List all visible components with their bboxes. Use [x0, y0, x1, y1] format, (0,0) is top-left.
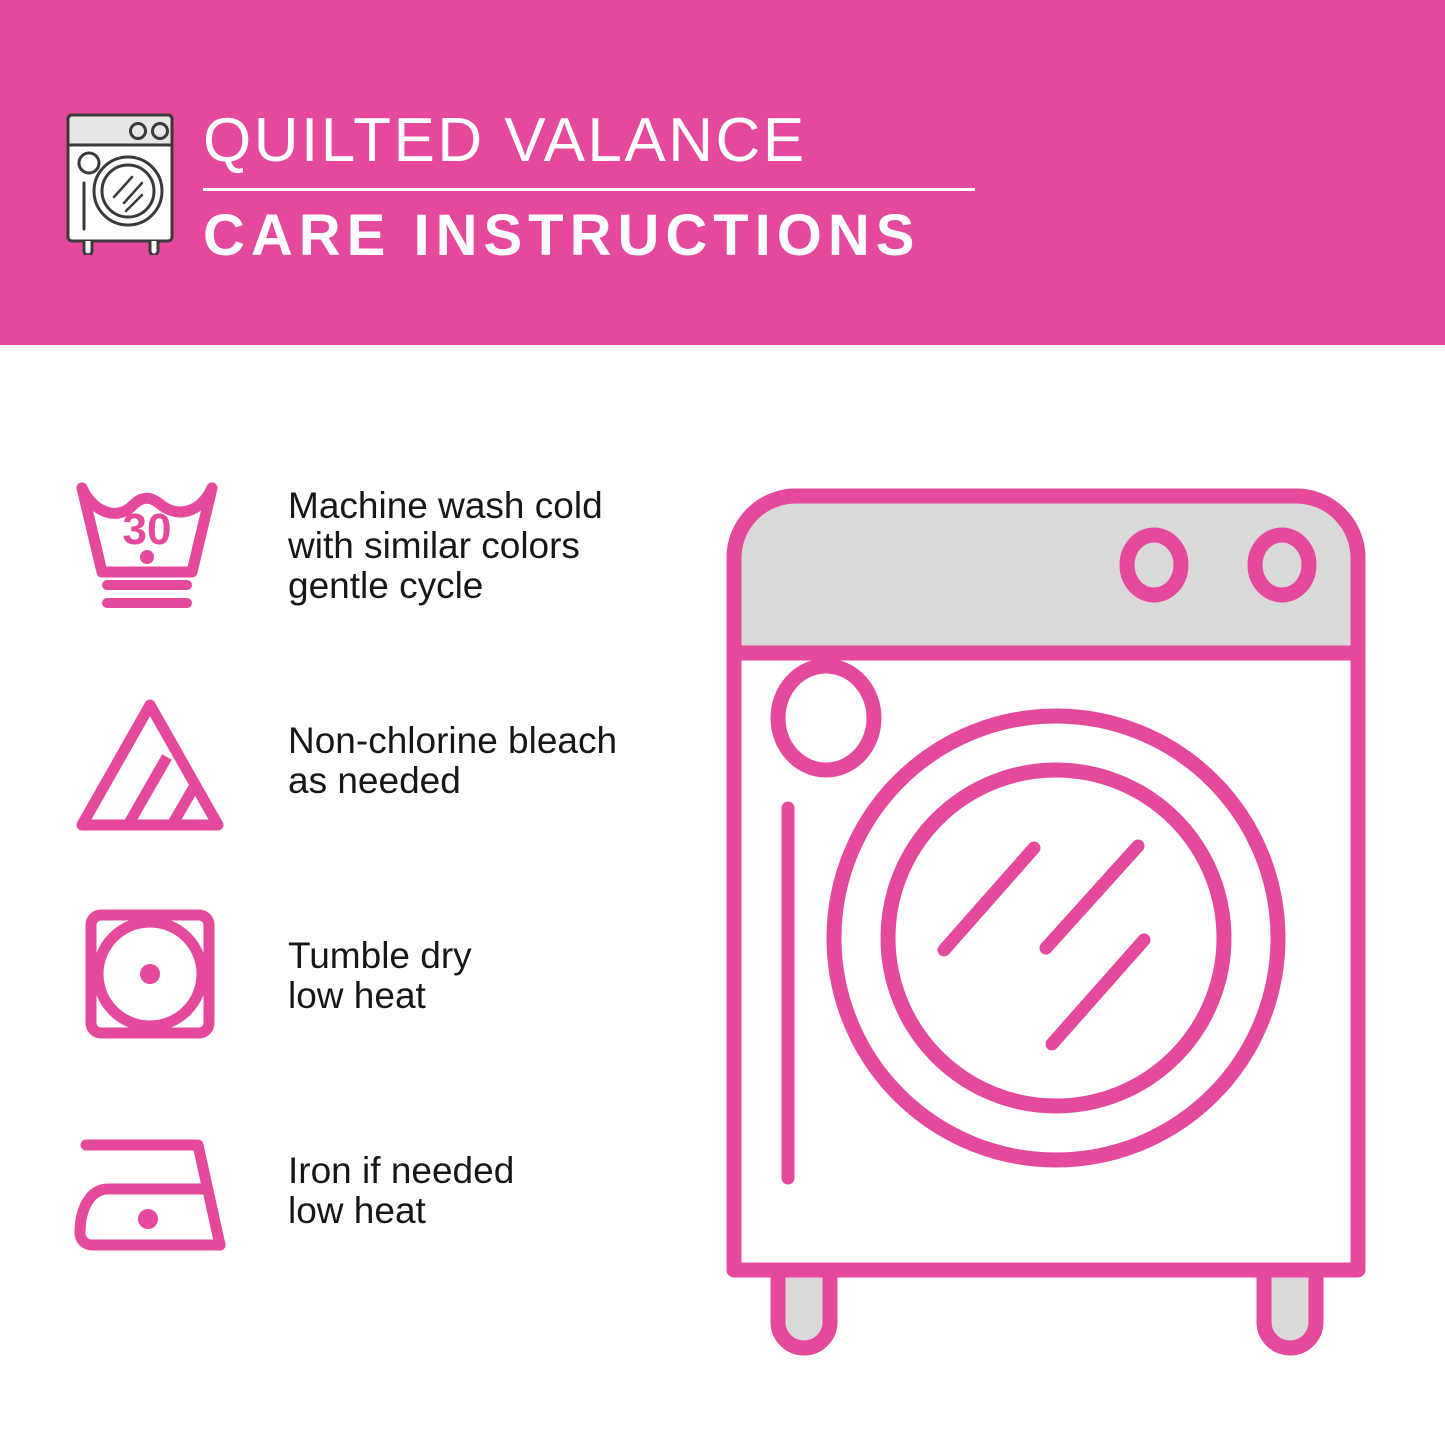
care-line: Iron if needed: [288, 1151, 514, 1191]
care-instruction-list: 30 Machine wash cold with similar colors…: [0, 470, 640, 1330]
leg-right: [1264, 1270, 1316, 1348]
tumble-dry-icon: [84, 908, 216, 1040]
care-line: gentle cycle: [288, 566, 603, 606]
control-panel: [734, 496, 1358, 653]
header-text-block: QUILTED VALANCE CARE INSTRUCTIONS: [203, 104, 993, 269]
washing-machine-icon: [62, 103, 186, 255]
front-load-washing-machine-illustration: [716, 478, 1376, 1368]
machine-wash-tub-icon: 30: [72, 476, 234, 616]
wash-bar-1: [102, 580, 192, 590]
page-title: QUILTED VALANCE: [203, 104, 993, 178]
wash-temperature-label: 30: [123, 505, 172, 554]
header-band: QUILTED VALANCE CARE INSTRUCTIONS: [0, 0, 1445, 345]
care-row-tumble-dry: Tumble dry low heat: [0, 900, 640, 1115]
tumble-dry-dot-icon: [140, 964, 160, 984]
care-text-iron: Iron if needed low heat: [288, 1151, 514, 1231]
leg-left: [778, 1270, 830, 1348]
page-subtitle: CARE INSTRUCTIONS: [203, 203, 993, 269]
wash-bar-2: [102, 598, 192, 608]
care-line: Tumble dry: [288, 936, 472, 976]
care-instructions-infographic: QUILTED VALANCE CARE INSTRUCTIONS 30: [0, 0, 1445, 1445]
care-text-machine-wash: Machine wash cold with similar colors ge…: [288, 486, 603, 606]
care-row-bleach: Non-chlorine bleach as needed: [0, 685, 640, 900]
iron-dot-icon: [138, 1209, 158, 1229]
care-row-iron: Iron if needed low heat: [0, 1115, 640, 1330]
care-line: Non-chlorine bleach: [288, 721, 617, 761]
care-text-tumble-dry: Tumble dry low heat: [288, 936, 472, 1016]
wash-dot-icon: [140, 550, 154, 564]
iron-icon: [72, 1133, 232, 1257]
care-line: low heat: [288, 976, 472, 1016]
care-row-machine-wash: 30 Machine wash cold with similar colors…: [0, 470, 640, 685]
care-text-bleach: Non-chlorine bleach as needed: [288, 721, 617, 801]
care-line: low heat: [288, 1191, 514, 1231]
care-line: Machine wash cold: [288, 486, 603, 526]
care-line: as needed: [288, 761, 617, 801]
non-chlorine-bleach-triangle-icon: [72, 695, 228, 835]
title-divider: [203, 188, 975, 191]
care-line: with similar colors: [288, 526, 603, 566]
